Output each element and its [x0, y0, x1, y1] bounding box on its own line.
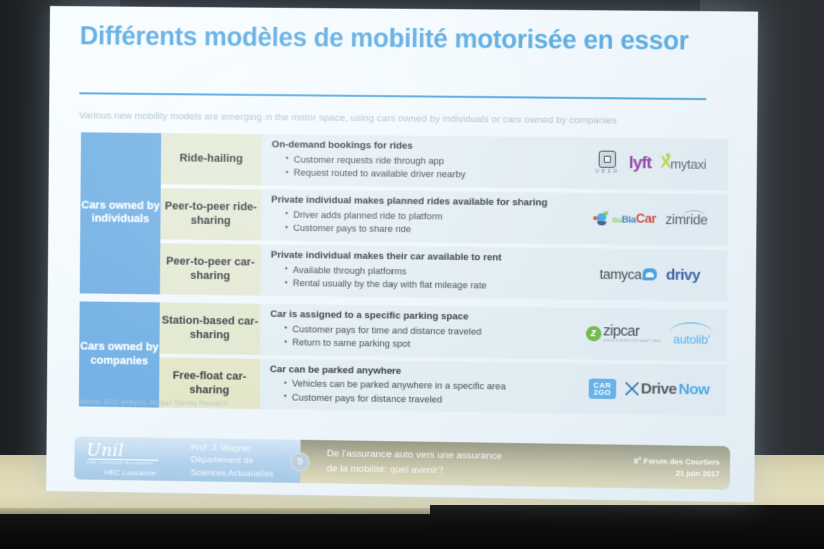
title-divider — [79, 92, 706, 100]
uber-logo-icon: UBER — [595, 151, 620, 175]
blablacar-mark — [593, 211, 610, 226]
model-description: On-demand bookings for rides Customer re… — [261, 134, 573, 188]
brand-logos: UBER lyft X mytaxi — [573, 137, 728, 190]
unil-logo: Unil UNIL | Université de Lausanne HEC L… — [82, 439, 183, 479]
drivenow-label-part2: Now — [679, 381, 710, 399]
autolib-logo-label: autolib' — [673, 332, 710, 347]
drivenow-label-part1: Drive — [641, 381, 677, 399]
description-bullets: Vehicles can be parked anywhere in a spe… — [284, 378, 564, 409]
room-floor-step — [430, 505, 824, 549]
slide-footer: Unil UNIL | Université de Lausanne HEC L… — [74, 436, 730, 489]
description-bullets: Customer requests ride through app Reque… — [286, 153, 566, 183]
projected-slide-photo: Différents modèles de mobilité motorisée… — [0, 0, 824, 549]
blablacar-label-part1: Bla — [612, 218, 621, 225]
zipcar-tagline: WHEELS WHEN YOU WANT THEM — [603, 339, 661, 343]
model-description: Car can be parked anywhere Vehicles can … — [260, 358, 572, 414]
unil-wordmark: Unil — [86, 440, 124, 461]
speaker-department-line2: Sciences Actuarielles — [191, 466, 274, 480]
car2go-logo-icon: CAR 2GO — [588, 378, 616, 399]
presentation-title: De l’assurance auto vers une assurance d… — [327, 447, 502, 479]
brand-logos: z zipcar WHEELS WHEN YOU WANT THEM autol… — [572, 307, 727, 360]
table-group-individuals: Cars owned by individuals Ride-hailing O… — [80, 132, 729, 301]
model-description: Private individual makes their car avail… — [260, 244, 572, 299]
group-label-companies: Cars owned by companies — [79, 301, 160, 408]
model-name: Peer-to-peer car-sharing — [160, 243, 261, 295]
description-bullets: Driver adds planned ride to platform Cus… — [285, 208, 565, 238]
unil-subtitle: UNIL | Université de Lausanne — [86, 459, 153, 465]
event-name: 8e Forum des Courtiers — [634, 455, 720, 468]
event-info: 8e Forum des Courtiers 21 juin 2017 — [634, 455, 720, 480]
bullet: Request routed to available driver nearb… — [286, 167, 566, 184]
slide-subtitle: Various new mobility models are emerging… — [79, 110, 716, 127]
mytaxi-logo-icon: X mytaxi — [660, 155, 706, 174]
drivenow-mark — [625, 383, 638, 396]
bullet: Customer pays for distance traveled — [284, 391, 564, 409]
slide-surface: Différents modèles de mobilité motorisée… — [46, 6, 758, 502]
bullet: Customer pays to share ride — [285, 222, 565, 239]
brand-logos: CAR 2GO DriveNow — [571, 363, 726, 417]
model-name: Station-based car-sharing — [159, 302, 260, 354]
mytaxi-mark: X — [660, 155, 670, 173]
drivenow-logo-icon: DriveNow — [625, 381, 709, 399]
group-label-individuals: Cars owned by individuals — [80, 132, 161, 294]
autolib-logo-icon: autolib' — [670, 322, 713, 347]
uber-logo-label: UBER — [595, 169, 620, 175]
table-row: Peer-to-peer ride-sharing Private indivi… — [160, 188, 728, 246]
footer-institution: Unil UNIL | Université de Lausanne HEC L… — [74, 436, 300, 483]
car2go-label-bottom: 2GO — [594, 389, 611, 396]
zipcar-logo-icon: z zipcar WHEELS WHEN YOU WANT THEM — [586, 324, 661, 343]
tamyca-car-mark — [642, 268, 656, 280]
blablacar-logo-icon: BlaBlaCar — [593, 211, 656, 227]
speaker-info: Prof. J. Wagner Département de Sciences … — [191, 441, 274, 480]
page-number-badge: 9 — [290, 452, 309, 471]
table-row: Free-float car-sharing Car can be parked… — [159, 357, 727, 416]
blablacar-label-part3: Car — [636, 212, 656, 226]
hec-lausanne-label: HEC Lausanne — [104, 467, 156, 477]
table-row: Ride-hailing On-demand bookings for ride… — [161, 133, 729, 190]
speaker-department-line1: Département de — [191, 453, 274, 467]
mobility-models-table: Cars owned by individuals Ride-hailing O… — [79, 132, 729, 424]
description-bullets: Customer pays for time and distance trav… — [284, 323, 564, 354]
table-row: Station-based car-sharing Car is assigne… — [159, 302, 727, 361]
brand-logos: tamyca drivy — [572, 248, 727, 301]
slide: Différents modèles de mobilité motorisée… — [46, 6, 758, 502]
blablacar-label-part2: Bla — [622, 215, 636, 226]
page-title: Différents modèles de mobilité motorisée… — [80, 20, 697, 58]
footer-presentation: 9 De l’assurance auto vers une assurance… — [300, 440, 730, 490]
event-label: Forum des Courtiers — [641, 456, 719, 466]
table-row: Peer-to-peer car-sharing Private individ… — [160, 243, 728, 301]
bullet: Return to same parking spot — [284, 336, 564, 353]
zimride-logo-icon: zimride — [665, 212, 707, 228]
presentation-title-line2: de la mobilité: quel avenir? — [327, 462, 502, 479]
model-name: Peer-to-peer ride-sharing — [160, 188, 261, 240]
bullet: Rental usually by the day with flat mile… — [285, 277, 565, 294]
event-date: 21 juin 2017 — [634, 467, 720, 480]
mytaxi-logo-label: mytaxi — [670, 156, 706, 172]
tamyca-logo-icon: tamyca — [600, 266, 657, 282]
model-description: Private individual makes planned rides a… — [261, 189, 573, 244]
brand-logos: BlaBlaCar zimride — [573, 193, 728, 246]
tamyca-logo-label: tamyca — [600, 266, 642, 282]
model-name: Ride-hailing — [161, 133, 262, 185]
drivy-logo-icon: drivy — [666, 266, 700, 284]
zipcar-mark: z — [586, 326, 601, 341]
lyft-logo-icon: lyft — [629, 153, 651, 173]
description-bullets: Available through platforms Rental usual… — [285, 264, 565, 295]
model-description: Car is assigned to a specific parking sp… — [260, 303, 572, 358]
